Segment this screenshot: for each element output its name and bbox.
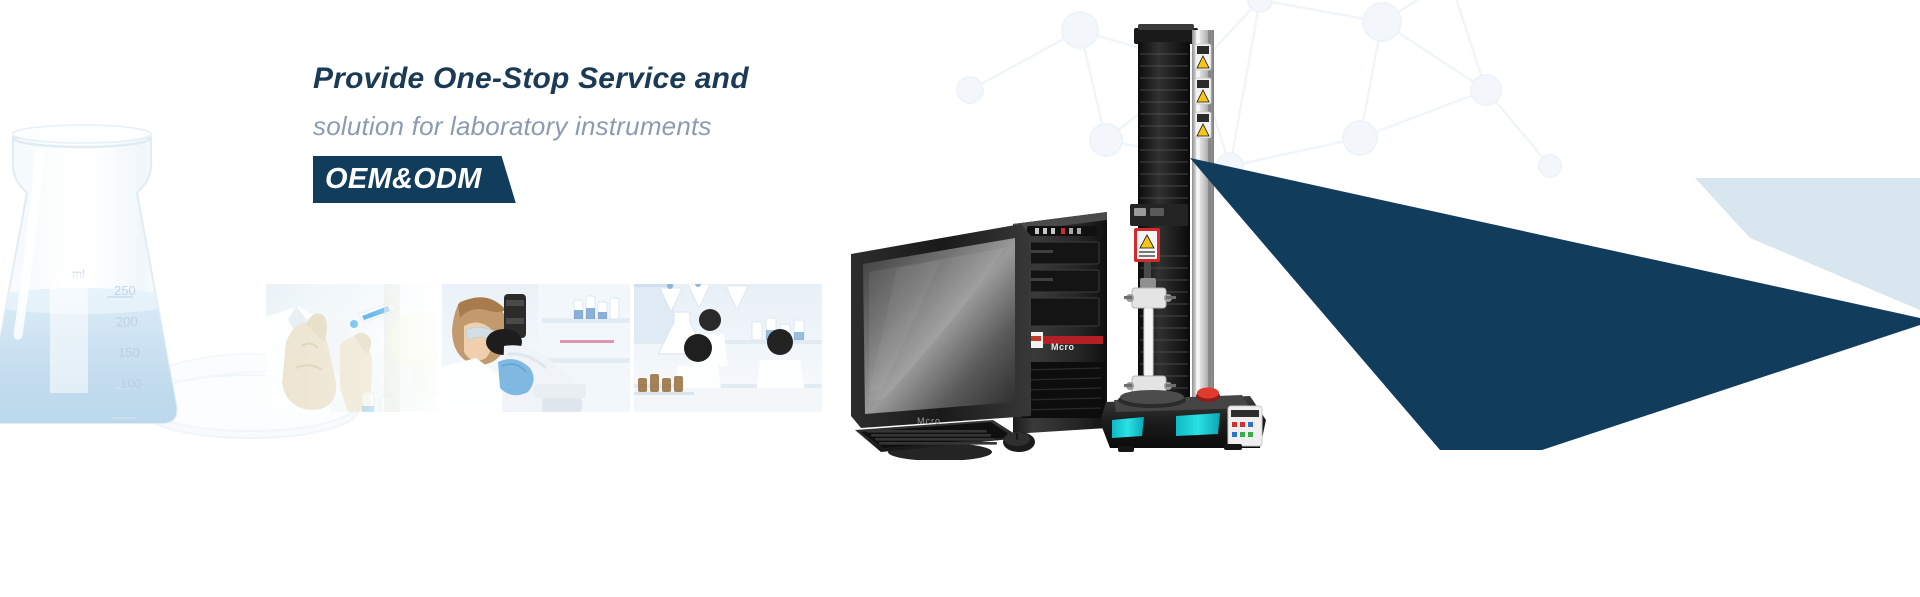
headline-block: Provide One-Stop Service and solution fo… xyxy=(313,58,933,203)
hero-banner: 250 200 150 100 ml Provide One-Stop Serv… xyxy=(0,0,1920,597)
molecule-watermark-icon xyxy=(930,0,1570,230)
svg-text:Mcro: Mcro xyxy=(917,416,941,426)
svg-text:Mcro: Mcro xyxy=(1051,342,1075,352)
oem-odm-badge-wrapper: OEM&ODM xyxy=(313,156,516,203)
svg-text:150: 150 xyxy=(118,345,140,360)
svg-text:200: 200 xyxy=(116,314,138,329)
universal-testing-machine-illustration xyxy=(1100,8,1280,453)
svg-text:ml: ml xyxy=(72,267,85,281)
arrow-light-shape-2 xyxy=(1695,178,1920,310)
svg-text:250: 250 xyxy=(114,283,136,298)
oem-odm-badge: OEM&ODM xyxy=(313,156,516,203)
headline-line-1: Provide One-Stop Service and xyxy=(313,58,933,100)
arrow-dark-shape xyxy=(1190,158,1920,450)
svg-text:100: 100 xyxy=(120,376,142,391)
photo-pipetting-hands xyxy=(266,284,438,412)
arrow-light-shape xyxy=(1695,178,1920,310)
photo-microscope-technician xyxy=(442,284,630,412)
lab-photo-strip xyxy=(266,284,822,412)
decorative-arrow-shapes xyxy=(1190,120,1920,450)
photo-lab-workers xyxy=(634,284,822,412)
headline-line-2: solution for laboratory instruments xyxy=(313,104,933,148)
